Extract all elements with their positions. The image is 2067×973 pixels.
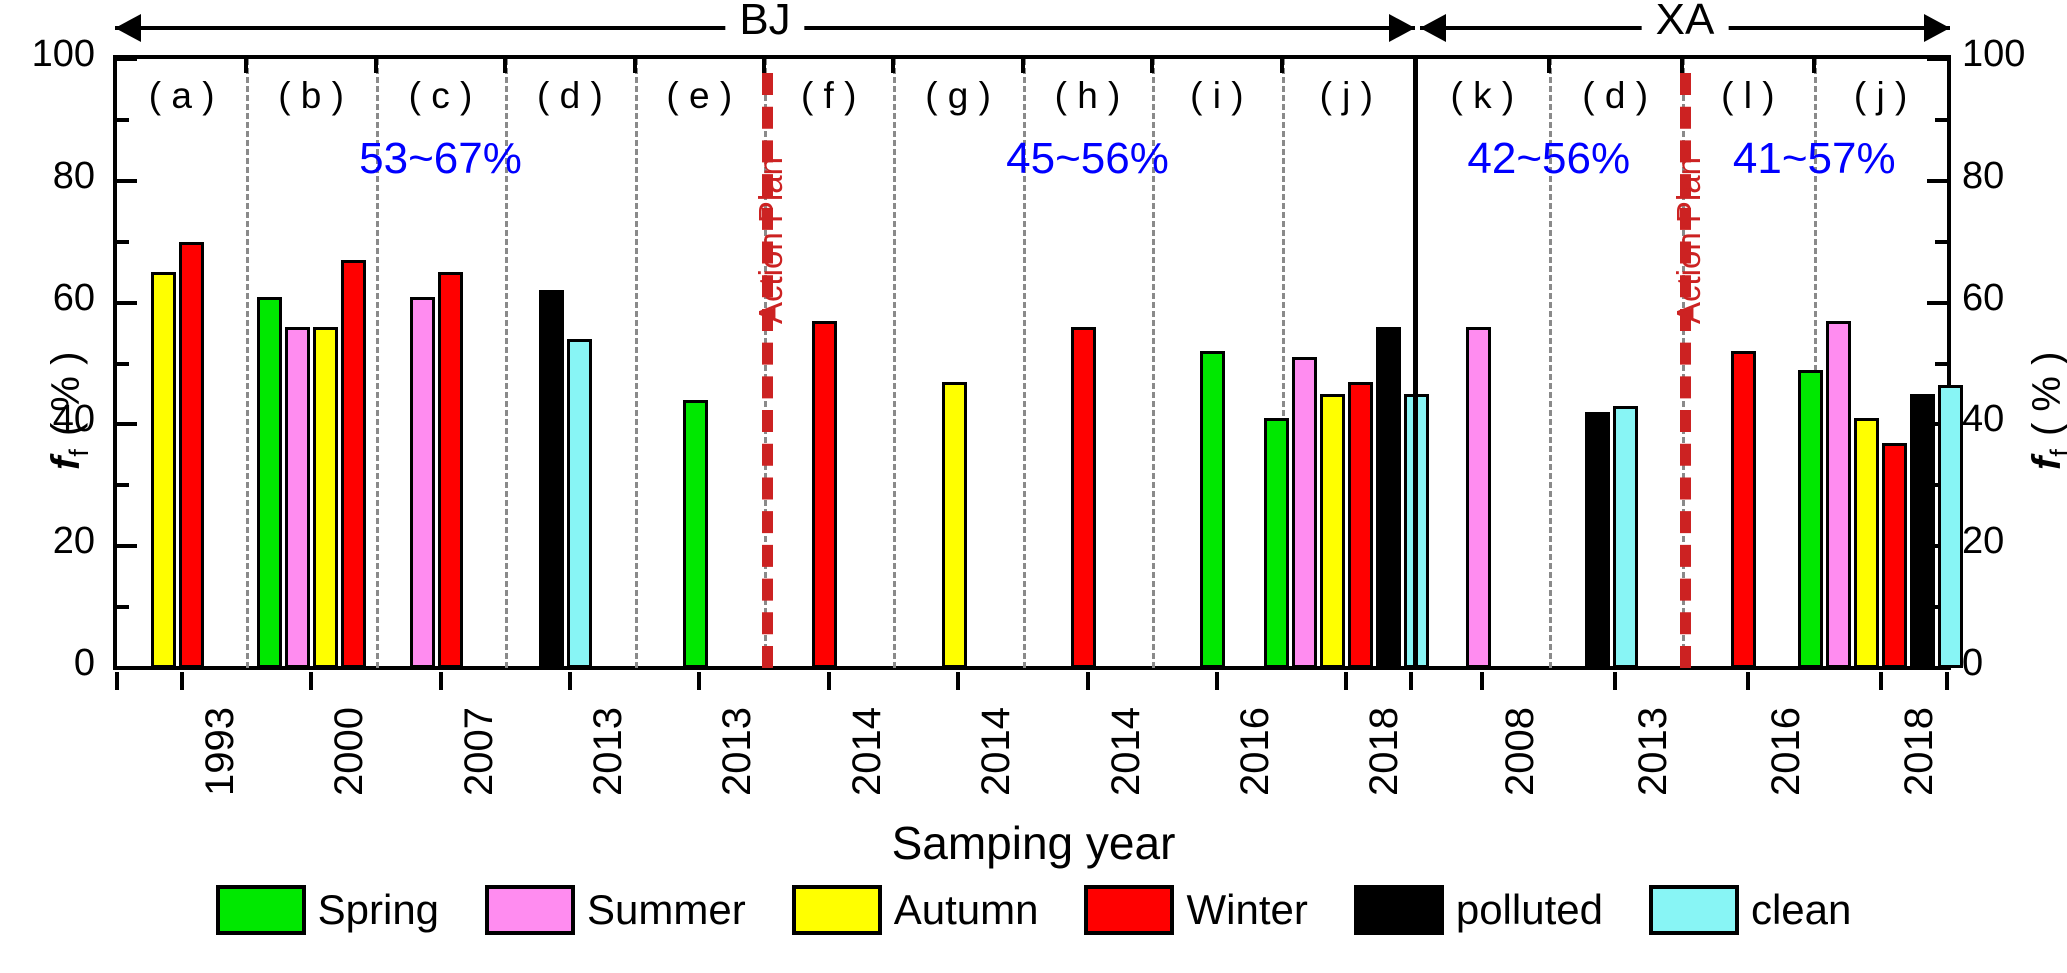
y-tick-label: 60 — [1962, 277, 2062, 320]
panel-label: ( e ) — [635, 75, 764, 117]
x-tick-top — [1150, 55, 1154, 73]
x-tick-bottom — [1344, 672, 1348, 690]
bar — [1798, 370, 1823, 668]
arrow-left-icon — [115, 14, 141, 42]
x-tick-bottom — [568, 672, 572, 690]
panel-label: ( f ) — [764, 75, 893, 117]
y-tick-minor — [117, 362, 129, 366]
legend-item[interactable]: Autumn — [792, 885, 1039, 935]
bar — [942, 382, 967, 668]
x-tick-bottom — [1613, 672, 1617, 690]
bar — [1585, 412, 1610, 668]
legend-label: Winter — [1186, 886, 1307, 934]
panel-label: ( l ) — [1682, 75, 1815, 117]
y-tick-minor — [1935, 240, 1947, 244]
y-tick-minor — [1935, 118, 1947, 122]
range-annotation: 45~56% — [893, 134, 1281, 184]
panel-label: ( j ) — [1814, 75, 1947, 117]
x-tick-label: 2016 — [1764, 707, 1809, 796]
x-tick-bottom — [180, 672, 184, 690]
region-label-bj: BJ — [725, 0, 804, 45]
bar — [1854, 418, 1879, 668]
range-annotation: 41~57% — [1682, 134, 1948, 184]
bar — [1320, 394, 1345, 668]
legend: SpringSummerAutumnWinterpollutedclean — [0, 885, 2067, 935]
bar — [341, 260, 366, 668]
x-tick-label: 2018 — [1362, 707, 1407, 796]
y-tick-major — [117, 301, 137, 305]
region-arrow-xa: XA — [1420, 4, 1950, 50]
y-tick-major — [117, 544, 137, 548]
bar — [1071, 327, 1096, 668]
range-annotation: 53~67% — [246, 134, 634, 184]
y-tick-major — [117, 666, 137, 670]
legend-swatch — [216, 885, 306, 935]
x-tick-label: 2013 — [586, 707, 631, 796]
bar — [313, 327, 338, 668]
x-tick-bottom — [956, 672, 960, 690]
legend-swatch — [485, 885, 575, 935]
group-separator — [635, 59, 638, 668]
bar — [1613, 406, 1638, 668]
bar — [1731, 351, 1756, 668]
y-tick-minor — [117, 483, 129, 487]
chart-root: BJ XA 002020404060608080100100 ( a )( b … — [0, 0, 2067, 973]
bar — [1376, 327, 1401, 668]
panel-label: ( i ) — [1152, 75, 1281, 117]
x-tick-bottom-edge — [1409, 672, 1413, 690]
y-tick-minor — [117, 240, 129, 244]
y-axis-title-right: ff ( % ) — [2025, 352, 2067, 470]
x-tick-top — [1812, 55, 1816, 73]
y-tick-major — [117, 422, 137, 426]
x-tick-label: 2007 — [457, 707, 502, 796]
y-tick-major — [117, 179, 137, 183]
x-tick-top — [1547, 55, 1551, 73]
panel-label: ( c ) — [376, 75, 505, 117]
bar — [1826, 321, 1851, 668]
x-tick-label: 2000 — [327, 707, 372, 796]
x-tick-top — [762, 55, 766, 73]
x-tick-top — [1021, 55, 1025, 73]
legend-label: Spring — [318, 886, 439, 934]
y-tick-label: 100 — [1962, 33, 2062, 76]
y-axis-title-unit: ( % ) — [44, 352, 88, 436]
bar — [257, 297, 282, 668]
bar — [1882, 443, 1907, 668]
y-tick-minor — [117, 605, 129, 609]
y-tick-minor — [117, 118, 129, 122]
range-annotation: 42~56% — [1416, 134, 1682, 184]
bar — [151, 272, 176, 668]
bar — [179, 242, 204, 668]
y-tick-label: 0 — [1962, 642, 2062, 685]
y-tick-minor — [1935, 362, 1947, 366]
x-tick-bottom — [439, 672, 443, 690]
bar — [683, 400, 708, 668]
y-tick-label: 20 — [1962, 520, 2062, 563]
arrow-right-icon — [1389, 14, 1415, 42]
region-label-xa: XA — [1642, 0, 1729, 45]
legend-item[interactable]: clean — [1649, 885, 1851, 935]
y-tick-major — [1927, 57, 1947, 61]
x-tick-label: 1993 — [198, 707, 243, 796]
x-tick-top — [503, 55, 507, 73]
bar — [539, 290, 564, 668]
action-plan-label: Action Plan — [752, 157, 790, 324]
x-tick-top — [1680, 55, 1684, 73]
x-tick-bottom — [1215, 672, 1219, 690]
x-tick-label: 2013 — [715, 707, 760, 796]
legend-label: polluted — [1456, 886, 1603, 934]
legend-label: clean — [1751, 886, 1851, 934]
action-plan-label: Action Plan — [1670, 157, 1708, 324]
y-axis-title-left: ff ( % ) — [44, 352, 95, 470]
y-axis-title-symbol: f — [2025, 457, 2067, 470]
x-tick-bottom — [827, 672, 831, 690]
arrow-right-icon — [1924, 14, 1950, 42]
y-tick-major — [117, 57, 137, 61]
x-tick-bottom-edge — [115, 672, 119, 690]
x-tick-top — [1280, 55, 1284, 73]
legend-label: Summer — [587, 886, 746, 934]
legend-swatch — [1354, 885, 1444, 935]
panel-label: ( k ) — [1416, 75, 1549, 117]
y-tick-label: 20 — [0, 520, 95, 563]
panel-label: ( d ) — [1549, 75, 1682, 117]
legend-item[interactable]: Winter — [1084, 885, 1307, 935]
bar — [1938, 385, 1963, 668]
x-tick-bottom — [1480, 672, 1484, 690]
panel-label: ( a ) — [117, 75, 246, 117]
y-axis-title-subscript: f — [64, 449, 94, 457]
arrow-left-icon — [1420, 14, 1446, 42]
x-tick-label: 2014 — [1104, 707, 1149, 796]
x-tick-label: 2008 — [1498, 707, 1543, 796]
legend-label: Autumn — [894, 886, 1039, 934]
legend-item[interactable]: Spring — [216, 885, 439, 935]
bar — [1466, 327, 1491, 668]
x-tick-label: 2018 — [1897, 707, 1942, 796]
x-tick-top — [244, 55, 248, 73]
bar — [1910, 394, 1935, 668]
y-tick-label: 80 — [1962, 155, 2062, 198]
y-axis-title-unit: ( % ) — [2025, 352, 2067, 436]
y-axis-title-symbol: f — [44, 457, 88, 470]
region-arrow-bj: BJ — [115, 4, 1415, 50]
y-tick-label: 100 — [0, 33, 95, 76]
bar — [1292, 357, 1317, 668]
panel-label: ( g ) — [893, 75, 1022, 117]
y-tick-major — [1927, 301, 1947, 305]
bar — [285, 327, 310, 668]
bar — [567, 339, 592, 668]
x-tick-bottom — [1746, 672, 1750, 690]
bar — [1348, 382, 1373, 668]
bar — [438, 272, 463, 668]
x-tick-label: 2013 — [1631, 707, 1676, 796]
y-tick-label: 80 — [0, 155, 95, 198]
y-axis-title-subscript: f — [2045, 449, 2067, 457]
panel-label: ( h ) — [1023, 75, 1152, 117]
legend-swatch — [1084, 885, 1174, 935]
panel-label: ( j ) — [1282, 75, 1411, 117]
legend-swatch — [792, 885, 882, 935]
x-tick-bottom — [1879, 672, 1883, 690]
bar — [410, 297, 435, 668]
region-divider — [1413, 55, 1418, 670]
legend-item[interactable]: polluted — [1354, 885, 1603, 935]
x-tick-top — [374, 55, 378, 73]
bar — [812, 321, 837, 668]
x-axis-title: Samping year — [0, 816, 2067, 870]
x-tick-bottom — [1086, 672, 1090, 690]
x-tick-label: 2014 — [974, 707, 1019, 796]
x-tick-top — [633, 55, 637, 73]
legend-item[interactable]: Summer — [485, 885, 746, 935]
x-tick-bottom — [309, 672, 313, 690]
y-tick-label: 60 — [0, 277, 95, 320]
y-tick-label: 0 — [0, 642, 95, 685]
bar — [1264, 418, 1289, 668]
bar — [1200, 351, 1225, 668]
x-tick-label: 2016 — [1233, 707, 1278, 796]
x-tick-bottom-edge — [1945, 672, 1949, 690]
x-tick-label: 2014 — [845, 707, 890, 796]
legend-swatch — [1649, 885, 1739, 935]
x-tick-bottom — [697, 672, 701, 690]
panel-label: ( d ) — [505, 75, 634, 117]
panel-label: ( b ) — [246, 75, 375, 117]
x-tick-top — [891, 55, 895, 73]
